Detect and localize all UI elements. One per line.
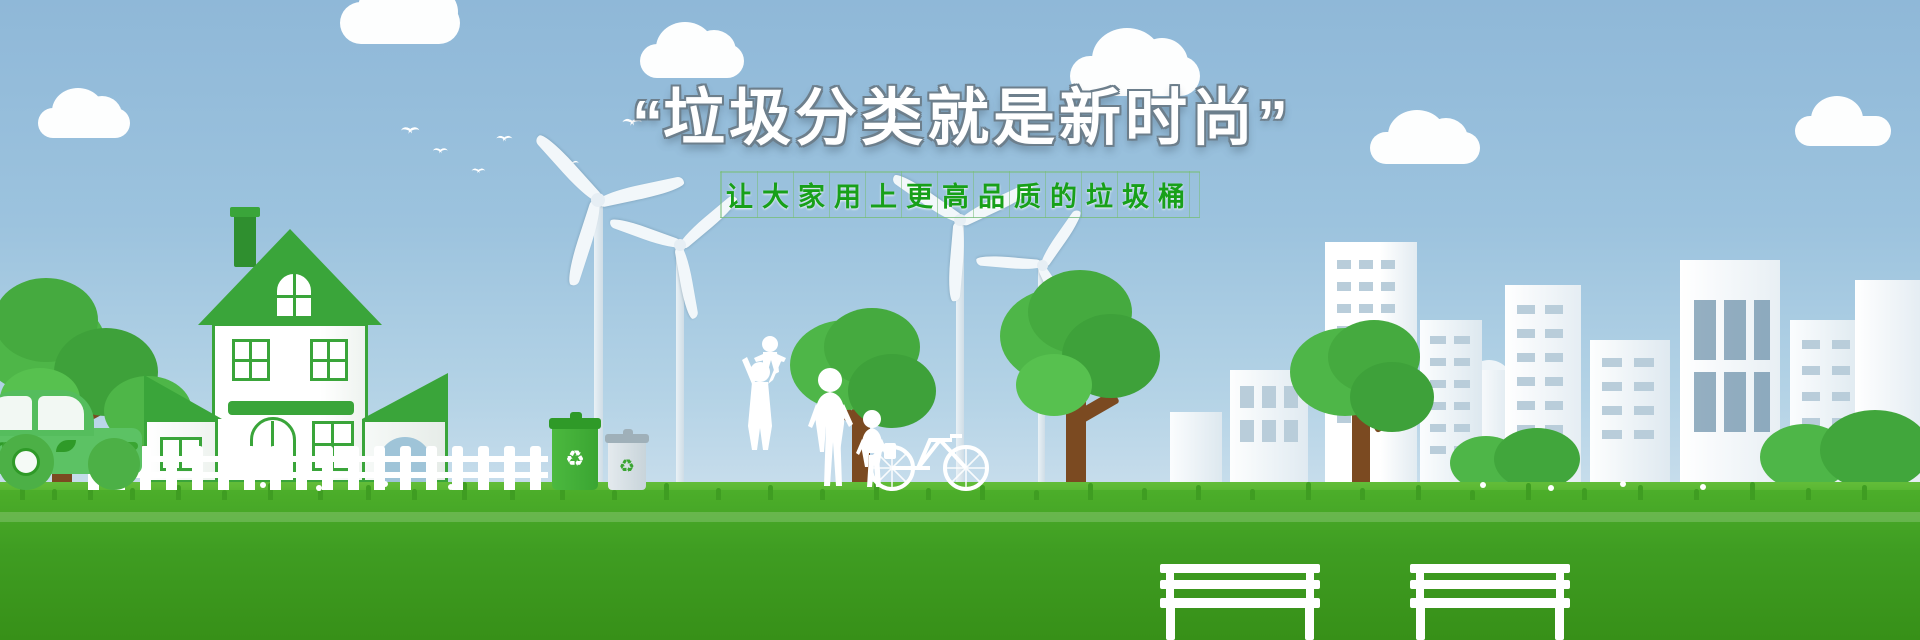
- grey-recycle-bin[interactable]: ♻: [608, 434, 646, 490]
- page-title: 垃圾分类就是新时尚: [663, 88, 1257, 150]
- park-bench: [1410, 564, 1570, 640]
- recycle-symbol-icon: ♻: [608, 454, 646, 478]
- tree: [1290, 300, 1440, 490]
- page-subtitle: 让大家用上更高品质的垃圾桶: [726, 175, 1194, 214]
- wind-turbine: [678, 245, 682, 490]
- flower-icon: [1620, 481, 1626, 487]
- eco-car[interactable]: eco: [0, 380, 150, 490]
- quote-open: “: [632, 89, 663, 158]
- bicycle: [866, 422, 996, 492]
- eco-banner: “垃圾分类就是新时尚” 让大家用上更高品质的垃圾桶: [0, 0, 1920, 640]
- picket-fence: [88, 444, 548, 490]
- flower-icon: [1700, 484, 1706, 490]
- window-grid: [1590, 340, 1670, 490]
- quote-close: ”: [1257, 89, 1288, 158]
- flower-icon: [1480, 482, 1486, 488]
- tree: [1000, 260, 1160, 490]
- title-block: “垃圾分类就是新时尚” 让大家用上更高品质的垃圾桶: [0, 88, 1920, 214]
- green-recycle-bin[interactable]: ♻: [552, 418, 598, 490]
- page-subtitle-text: 让大家用上更高品质的垃圾桶: [726, 182, 1194, 212]
- park-bench: [1160, 564, 1320, 640]
- sidewalk: [0, 512, 1920, 522]
- city-building: [1590, 340, 1670, 490]
- flower-icon: [1548, 485, 1554, 491]
- shrub: [1760, 400, 1920, 490]
- recycle-symbol-icon: ♻: [552, 444, 598, 474]
